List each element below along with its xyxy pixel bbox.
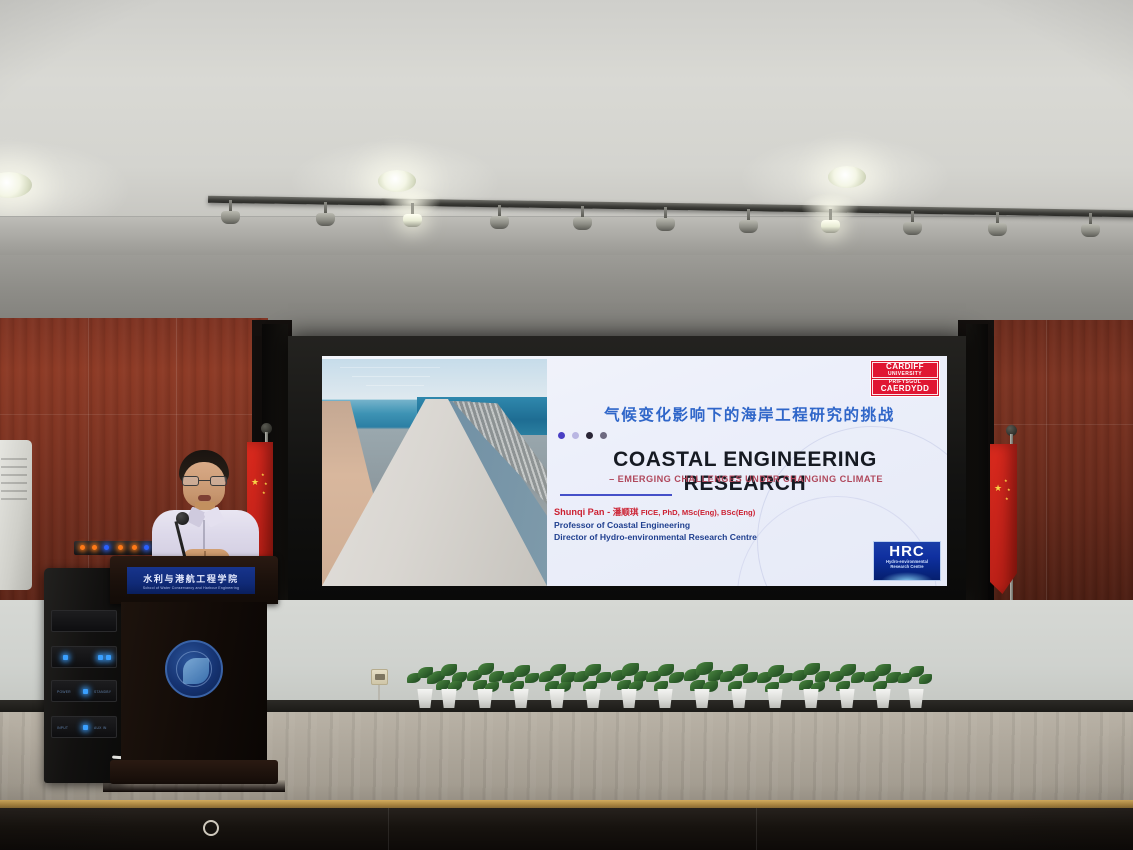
lectern-podium: 水利与港航工程学院 School of Water Conservancy an… — [110, 556, 278, 804]
wall-power-outlet[interactable] — [371, 669, 388, 685]
author-role-primary: Professor of Coastal Engineering — [554, 519, 757, 531]
track-spotlight[interactable] — [818, 209, 842, 235]
track-spotlight[interactable] — [900, 211, 924, 237]
track-spotlight[interactable] — [985, 212, 1009, 238]
podium-microphone-head[interactable] — [176, 512, 189, 525]
hrc-acronym: HRC — [889, 544, 925, 559]
slide-author-block: Shunqi Pan - 潘顺琪 FICE, PhD, MSc(Eng), BS… — [554, 506, 757, 544]
track-spotlight[interactable] — [736, 209, 760, 235]
rack-unit-right-label: STANDBY — [94, 690, 111, 694]
slide-accent-rule — [560, 494, 672, 496]
flag-cloth: ★ ★ ★ ★ — [990, 444, 1017, 594]
rack-unit[interactable]: POWER STANDBY — [51, 680, 117, 702]
stage-front-fascia — [0, 808, 1133, 850]
rack-unit[interactable]: INPUT AUX IN — [51, 716, 117, 738]
track-spotlight[interactable] — [487, 205, 511, 231]
track-spotlight[interactable] — [313, 202, 337, 228]
ceiling-downlight — [0, 172, 32, 198]
cardiff-logo-welsh: PRIFYSGOL CAERDYDD — [872, 379, 938, 395]
ceiling — [0, 0, 1133, 268]
podium-sign-english: School of Water Conservancy and Harbour … — [143, 586, 239, 590]
university-emblem-icon — [165, 640, 223, 698]
potted-plant — [896, 662, 936, 708]
rack-unit-right-label: AUX IN — [94, 726, 107, 730]
author-role-secondary: Director of Hydro-environmental Research… — [554, 531, 757, 543]
glasses-icon — [182, 476, 227, 486]
track-spotlight[interactable] — [400, 203, 424, 229]
podium-sign-chinese: 水利与港航工程学院 — [143, 572, 238, 585]
hrc-line2: Research Centre — [890, 564, 923, 569]
slide-decorative-dots — [558, 432, 607, 439]
presentation-slide[interactable]: CARDIFF UNIVERSITY PRIFYSGOL CAERDYDD 气候… — [322, 356, 947, 586]
track-spotlight[interactable] — [218, 200, 242, 226]
ceiling-downlight — [828, 166, 866, 188]
rack-unit-left-label: INPUT — [57, 726, 68, 730]
slide-title-chinese: 气候变化影响下的海岸工程研究的挑战 — [562, 403, 937, 425]
potted-plant — [405, 663, 445, 708]
slide-title-english: COASTAL ENGINEERING RESEARCH — [550, 448, 940, 496]
coastal-sea-wall-photo — [322, 359, 547, 586]
presenter-mouth — [198, 495, 211, 501]
rack-unit-left-label: POWER — [57, 690, 71, 694]
rack-unit[interactable] — [51, 646, 117, 668]
track-spotlight[interactable] — [653, 207, 677, 233]
presenter — [146, 450, 264, 570]
lecture-hall-scene: CARDIFF UNIVERSITY PRIFYSGOL CAERDYDD 气候… — [0, 0, 1133, 850]
stage-front-fixture-icon — [203, 820, 219, 836]
hrc-logo: HRC Hydro-environmental Research Centre — [873, 541, 941, 581]
podium-foot — [103, 780, 285, 792]
air-conditioner-unit — [0, 440, 32, 590]
track-spotlight[interactable] — [1078, 213, 1102, 239]
chinese-flag-right: ★ ★ ★ ★ — [1000, 434, 1022, 624]
screen-shadow-right — [966, 324, 988, 614]
cardiff-logo-english: CARDIFF UNIVERSITY — [872, 362, 938, 378]
track-spotlight[interactable] — [570, 206, 594, 232]
cardiff-university-logo: CARDIFF UNIVERSITY PRIFYSGOL CAERDYDD — [870, 360, 940, 397]
slide-subtitle-english: – EMERGING CHALLENGES UNDER CHANGING CLI… — [550, 474, 942, 484]
podium-name-plate: 水利与港航工程学院 School of Water Conservancy an… — [127, 567, 255, 594]
author-name-line: Shunqi Pan - 潘顺琪 FICE, PhD, MSc(Eng), BS… — [554, 506, 757, 519]
